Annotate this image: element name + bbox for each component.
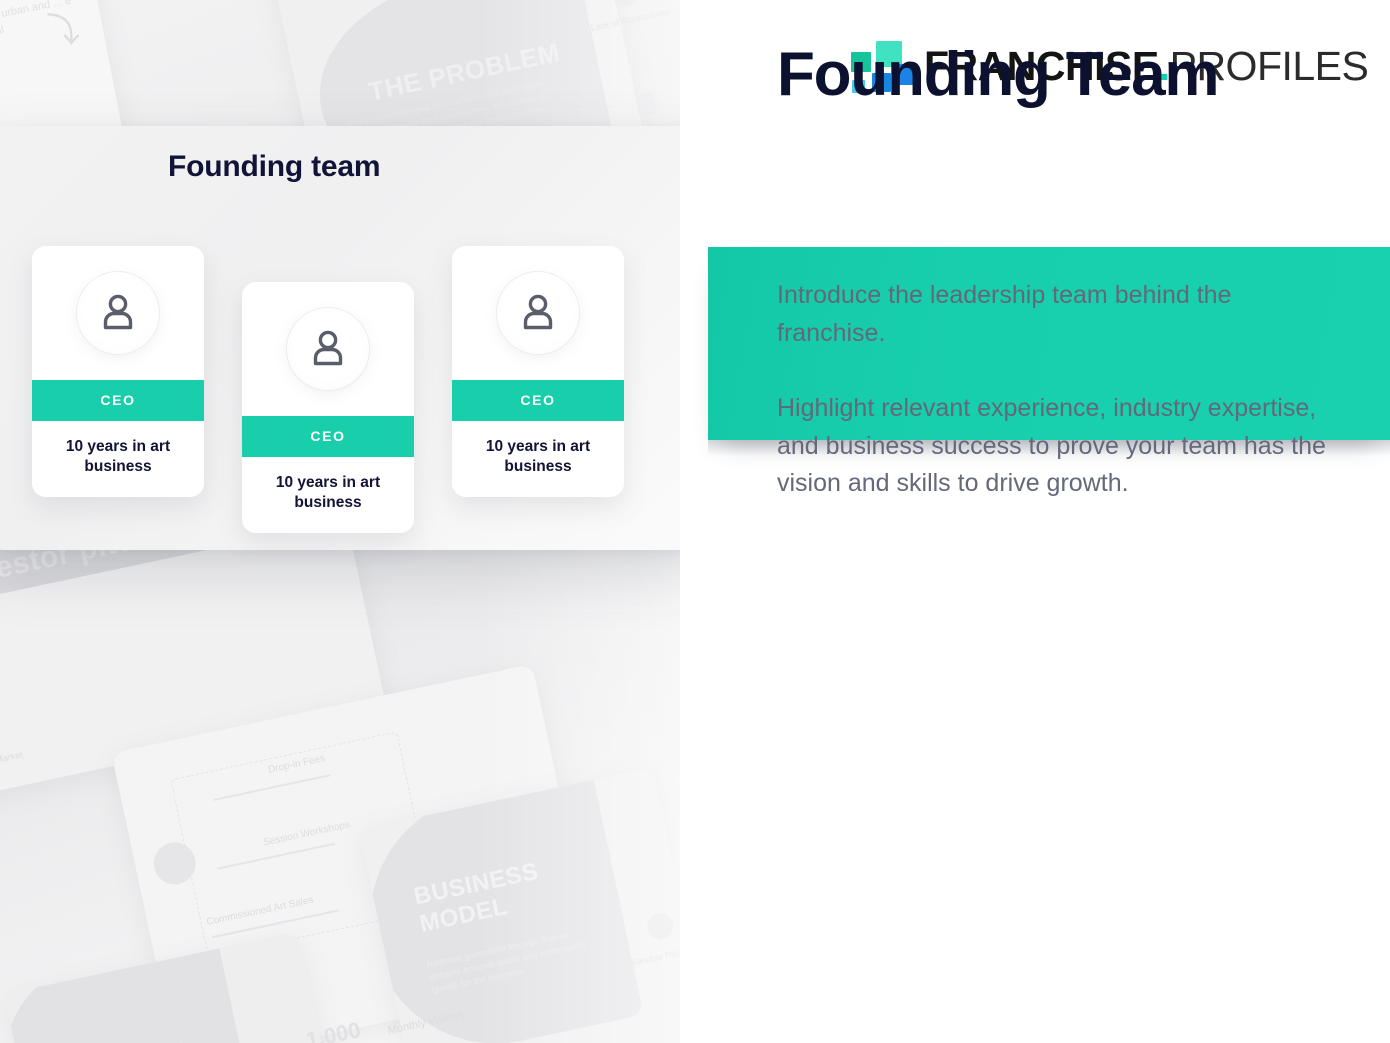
backdrop-label: Serviceable Obtainable Market (SOM) (0, 736, 44, 784)
avatar (452, 246, 624, 380)
page-title: Founding Team (777, 42, 1218, 107)
backdrop-label: Lack of Accessibility (587, 6, 673, 34)
person-icon (96, 291, 140, 335)
ghost-icon (635, 92, 657, 117)
description-block: Introduce the leadership team behind the… (777, 277, 1337, 503)
stat-label: Monthly Visitors (387, 1009, 465, 1037)
description-paragraph-1: Introduce the leadership team behind the… (777, 277, 1337, 352)
member-caption: 10 years in art business (242, 457, 414, 533)
person-icon (306, 327, 350, 371)
ghost-icon (645, 911, 676, 942)
person-icon (516, 291, 560, 335)
role-badge: CEO (32, 380, 204, 421)
team-member-card[interactable]: CEO 10 years in art business (242, 282, 414, 533)
curved-arrow-icon: ⤵ (46, 14, 80, 48)
description-paragraph-2: Highlight relevant experience, industry … (777, 390, 1337, 503)
founding-team-preview-card: Founding team CEO 10 years in art busine… (0, 126, 703, 550)
stat-value: 1,000 (304, 1017, 363, 1043)
ghost-blob (4, 932, 263, 1043)
member-caption: 10 years in art business (32, 421, 204, 497)
right-panel: FRANCHISE.PROFILES Founding Team Introdu… (680, 0, 1390, 1043)
ghost-icon (612, 0, 636, 7)
team-member-card[interactable]: CEO 10 years in art business (32, 246, 204, 497)
team-member-card[interactable]: CEO 10 years in art business (452, 246, 624, 497)
role-badge: CEO (452, 380, 624, 421)
avatar (32, 246, 204, 380)
slide-canvas: MARKET ...ances in urban and ... e subst… (0, 0, 1390, 1043)
member-caption: 10 years in art business (452, 421, 624, 497)
ghost-arrow-market: ⤵ (40, 10, 110, 80)
backdrop-label: Flexible Pricing (631, 943, 680, 967)
role-badge: CEO (242, 416, 414, 457)
preview-title: Founding team (168, 150, 380, 184)
avatar (242, 282, 414, 416)
